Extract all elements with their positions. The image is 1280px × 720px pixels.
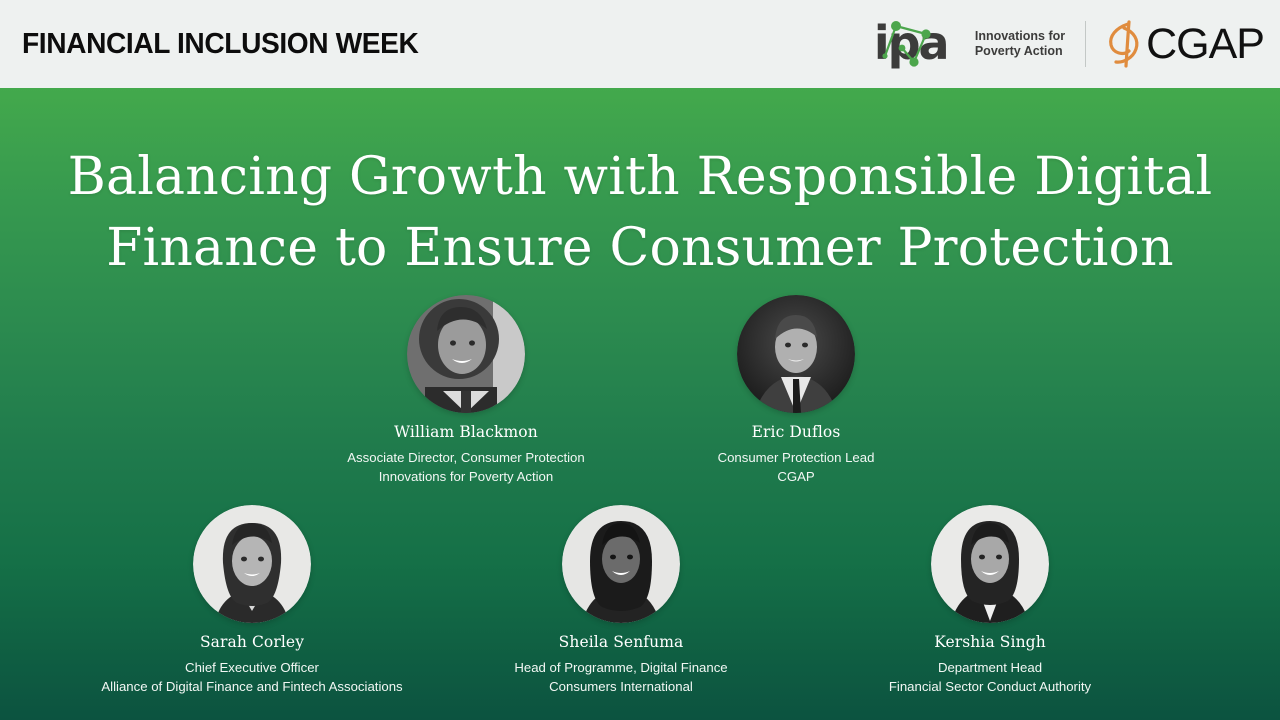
speaker-role: Department Head [825, 659, 1155, 678]
avatar [931, 505, 1049, 623]
speaker-role: Head of Programme, Digital Finance [456, 659, 786, 678]
presentation-slide: FINANCIAL INCLUSION WEEK ipa [0, 0, 1280, 720]
speaker-org: Alliance of Digital Finance and Fintech … [87, 678, 417, 697]
portrait-sarah-corley [193, 505, 311, 623]
cgap-logo: CGAP [1104, 18, 1264, 70]
ipa-tagline-line1: Innovations for [975, 29, 1065, 44]
avatar [407, 295, 525, 413]
cgap-flame-icon [1104, 18, 1148, 70]
session-title: Balancing Growth with Responsible Digita… [0, 142, 1280, 284]
avatar [562, 505, 680, 623]
portrait-william-blackmon [407, 295, 525, 413]
speaker-org: CGAP [631, 468, 961, 487]
speaker-card: Eric Duflos Consumer Protection Lead CGA… [631, 295, 961, 486]
speaker-name: Sarah Corley [87, 633, 417, 652]
speaker-org: Consumers International [456, 678, 786, 697]
speaker-card: William Blackmon Associate Director, Con… [301, 295, 631, 486]
cgap-wordmark: CGAP [1146, 23, 1264, 66]
ipa-wordmark: ipa [874, 18, 966, 70]
speaker-role: Associate Director, Consumer Protection [301, 449, 631, 468]
portrait-kershia-singh [931, 505, 1049, 623]
avatar [193, 505, 311, 623]
logo-divider [1085, 21, 1086, 67]
logo-group: ipa [874, 18, 1264, 70]
speaker-name: Eric Duflos [631, 423, 961, 442]
session-title-line2: Finance to Ensure Consumer Protection [0, 213, 1280, 284]
speaker-org: Financial Sector Conduct Authority [825, 678, 1155, 697]
speaker-card: Kershia Singh Department Head Financial … [825, 505, 1155, 696]
ipa-logo: ipa [874, 18, 1065, 70]
portrait-eric-duflos [737, 295, 855, 413]
speaker-role: Consumer Protection Lead [631, 449, 961, 468]
session-title-line1: Balancing Growth with Responsible Digita… [0, 142, 1280, 213]
speaker-name: Sheila Senfuma [456, 633, 786, 652]
speaker-org: Innovations for Poverty Action [301, 468, 631, 487]
slide-header: FINANCIAL INCLUSION WEEK ipa [0, 0, 1280, 88]
event-title: FINANCIAL INCLUSION WEEK [22, 28, 418, 61]
portrait-sheila-senfuma [562, 505, 680, 623]
speaker-card: Sarah Corley Chief Executive Officer All… [87, 505, 417, 696]
speaker-card: Sheila Senfuma Head of Programme, Digita… [456, 505, 786, 696]
ipa-tagline-line2: Poverty Action [975, 44, 1065, 59]
ipa-network-dots-icon [874, 18, 966, 70]
speaker-name: Kershia Singh [825, 633, 1155, 652]
speaker-role: Chief Executive Officer [87, 659, 417, 678]
avatar [737, 295, 855, 413]
speaker-name: William Blackmon [301, 423, 631, 442]
ipa-tagline: Innovations for Poverty Action [975, 29, 1065, 59]
